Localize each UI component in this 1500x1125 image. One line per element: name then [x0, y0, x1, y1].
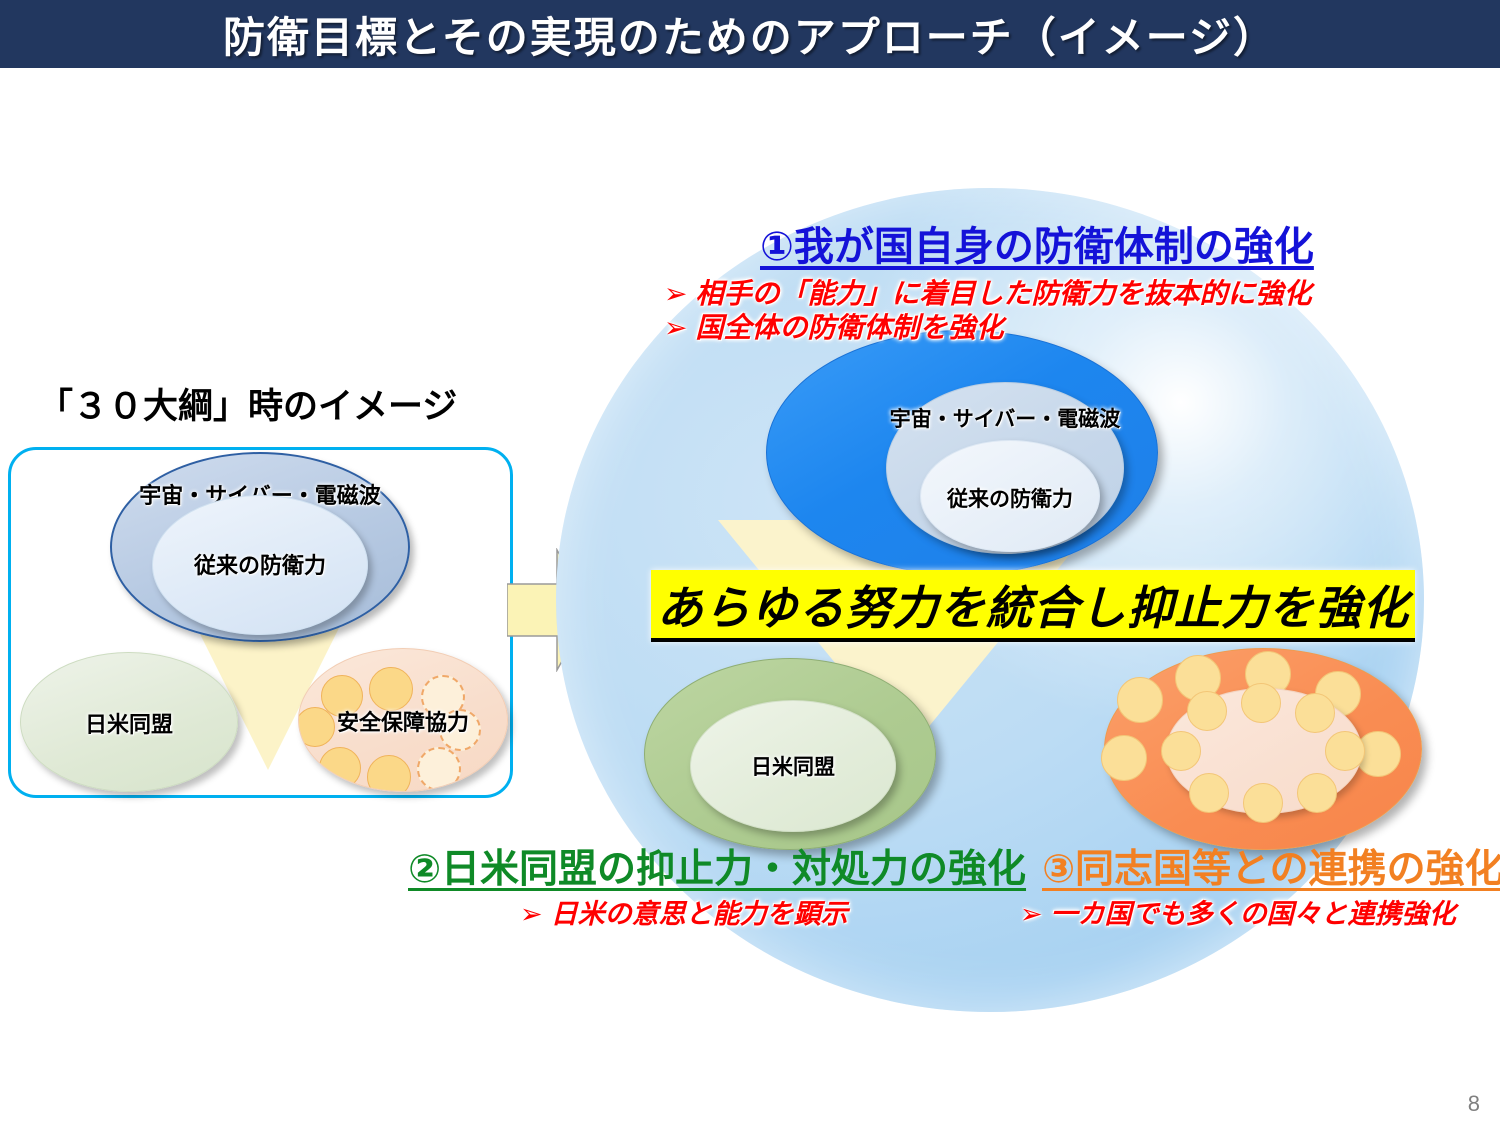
country-dot-dashed [417, 747, 461, 791]
left-panel-title: 「３０大綱」時のイメージ [38, 378, 457, 429]
bullet-text: 一カ国でも多くの国々と連携強化 [1051, 899, 1456, 929]
country-dot [1161, 731, 1201, 771]
bullet-text: 国全体の防衛体制を強化 [695, 312, 1003, 343]
heading-own-defense: ①我が国自身の防衛体制の強化 [760, 214, 1314, 272]
bullet-like-minded-1: ➢一カ国でも多くの国々と連携強化 [1020, 892, 1456, 931]
heading-like-minded: ③同志国等との連携の強化 [1042, 838, 1500, 894]
bullet-marker-icon: ➢ [520, 899, 543, 929]
left-panel-security-cooperation-label: 安全保障協力 [299, 705, 507, 737]
right-panel-conventional-defense-ellipse: 従来の防衛力 [920, 440, 1100, 552]
country-dot-solid [319, 747, 361, 789]
country-dot [1295, 693, 1335, 733]
page-number: 8 [1468, 1091, 1480, 1117]
country-dot [1117, 677, 1163, 723]
center-statement: あらゆる努力を統合し抑止力を強化 [651, 570, 1415, 642]
left-panel-japan-us-alliance-ellipse: 日米同盟 [20, 652, 238, 792]
country-dot-solid [367, 755, 411, 792]
bullet-alliance-1: ➢日米の意思と能力を顕示 [520, 892, 848, 931]
bullet-text: 相手の「能力」に着目した防衛力を抜本的に強化 [695, 278, 1311, 309]
slide-title: 防衛目標とその実現のためのアプローチ（イメージ） [0, 0, 1500, 68]
right-panel-like-minded-inner-ellipse [1166, 688, 1362, 814]
country-dot [1297, 773, 1337, 813]
bullet-text: 日米の意思と能力を顕示 [551, 899, 848, 929]
left-panel-conventional-defense-label: 従来の防衛力 [153, 548, 367, 580]
country-dot [1187, 691, 1227, 731]
country-dot [1189, 773, 1229, 813]
bullet-marker-icon: ➢ [1020, 899, 1043, 929]
bullet-marker-icon: ➢ [664, 312, 687, 343]
country-dot [1325, 731, 1365, 771]
country-dot [1241, 683, 1281, 723]
country-dot [1243, 783, 1283, 823]
slide-title-bar: 防衛目標とその実現のためのアプローチ（イメージ） [0, 0, 1500, 68]
left-panel-conventional-defense-ellipse: 従来の防衛力 [152, 495, 368, 635]
heading-alliance: ②日米同盟の抑止力・対処力の強化 [408, 838, 1026, 894]
slide-canvas: 防衛目標とその実現のためのアプローチ（イメージ） 「３０大綱」時のイメージ 安全… [0, 0, 1500, 1125]
country-dot [1101, 735, 1147, 781]
right-panel-japan-us-alliance-label: 日米同盟 [691, 751, 895, 781]
left-panel-security-cooperation-ellipse: 安全保障協力 [298, 648, 508, 792]
left-panel-japan-us-alliance-label: 日米同盟 [21, 707, 237, 739]
right-panel-conventional-defense-label: 従来の防衛力 [921, 483, 1099, 513]
right-panel-alliance-inner-ellipse: 日米同盟 [690, 700, 896, 832]
bullet-marker-icon: ➢ [664, 278, 687, 309]
bullet-own-defense-2: ➢国全体の防衛体制を強化 [664, 306, 1003, 346]
right-panel-space-cyber-em-label: 宇宙・サイバー・電磁波 [887, 403, 1123, 433]
